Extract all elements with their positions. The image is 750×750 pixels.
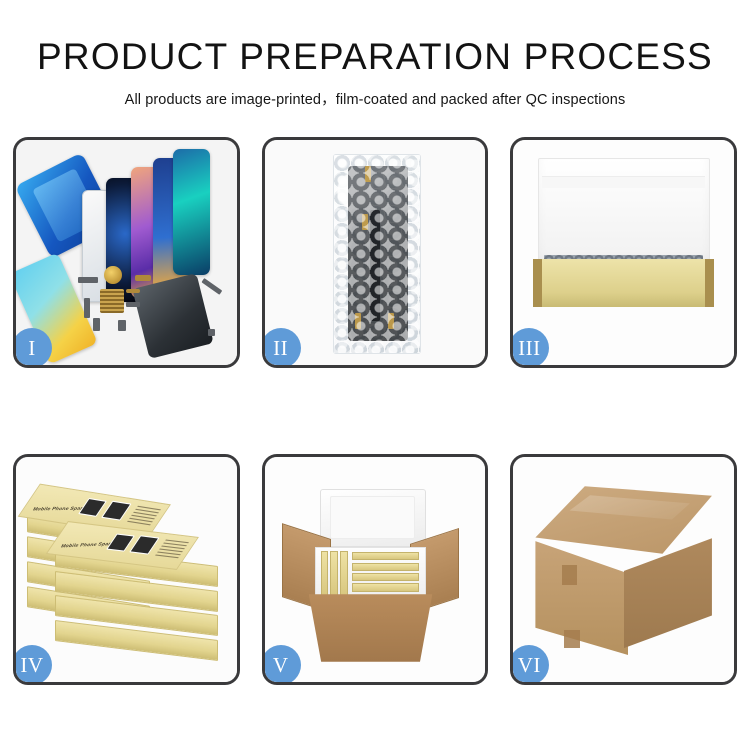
carton-tape-lower [564,630,579,648]
panel-6-badge: VI [513,645,549,682]
phone-teal-gradient [173,149,211,275]
inner-box-h-3 [352,573,419,581]
panel-4-image: Mobile Phone Spare Parts Mobile Phone Sp… [16,457,237,682]
process-panel-6[interactable]: VI [510,454,737,685]
box-spec-lines-front [153,539,188,560]
screw-part [208,329,215,336]
carton-body [309,594,433,662]
inner-box-open-lid [538,158,710,266]
process-panel-2[interactable]: II [262,137,489,368]
ic-chip-part [100,289,124,314]
box-window-back-2 [101,501,132,521]
panel-4-badge: IV [16,645,52,682]
wrapped-flex-cable [370,210,379,321]
panel-5-badge: V [265,645,301,682]
foam-insert [315,547,425,601]
screwdriver-tool [202,278,223,294]
box-window-front-2 [129,535,160,554]
page-subtitle: All products are image-printed，film-coat… [0,88,750,109]
foam-lid [320,489,426,548]
box-spec-lines-back [126,506,161,528]
carton-tape-upper [562,565,577,585]
panel-3-badge: III [513,328,549,365]
panel-2-image: II [265,140,486,365]
gold-flex-connector [135,275,150,281]
panel-5-image: V [265,457,486,682]
process-panel-3[interactable]: III [510,137,737,368]
process-panel-1[interactable]: I [13,137,240,368]
gold-tab-middle [362,214,368,230]
panel-2-badge: II [265,328,301,365]
panel-1-badge: I [16,328,52,365]
camera-module-part [93,318,100,332]
gold-contact-part [126,289,139,294]
small-connector-part [84,298,90,318]
inner-box-h-1 [352,552,419,560]
panel-3-image: III [513,140,734,365]
carton-front-face [535,531,628,655]
inner-box-v-2 [330,551,338,597]
gold-tab-bottom-left [355,313,361,329]
page-title: PRODUCT PREPARATION PROCESS [0,38,750,77]
kraft-box-right-edge [705,259,714,306]
process-panel-grid: I II III [13,137,737,685]
inner-box-v-1 [321,551,329,597]
phone-back-housing [132,273,214,359]
vibrator-motor-part [104,266,122,284]
kraft-box-body [533,259,714,306]
antenna-strip-part [126,302,139,307]
flex-cable-part [78,277,98,283]
process-panel-4[interactable]: Mobile Phone Spare Parts Mobile Phone Sp… [13,454,240,685]
carton-top-face [535,486,712,554]
page-header: PRODUCT PREPARATION PROCESS All products… [0,0,750,109]
inner-box-v-3 [340,551,348,597]
inner-box-h-2 [352,563,419,571]
box-stack: Mobile Phone Spare Parts Mobile Phone Sp… [27,477,226,668]
bubble-wrap-bag [333,154,421,354]
panel-1-image: I [16,140,237,365]
process-panel-5[interactable]: V [262,454,489,685]
kraft-box-left-edge [533,259,542,306]
panel-6-image: VI [513,457,734,682]
speaker-part [118,320,127,331]
gold-tab-bottom-right [388,313,394,329]
inner-box-h-4 [352,583,419,591]
gold-tab-top [365,166,371,182]
